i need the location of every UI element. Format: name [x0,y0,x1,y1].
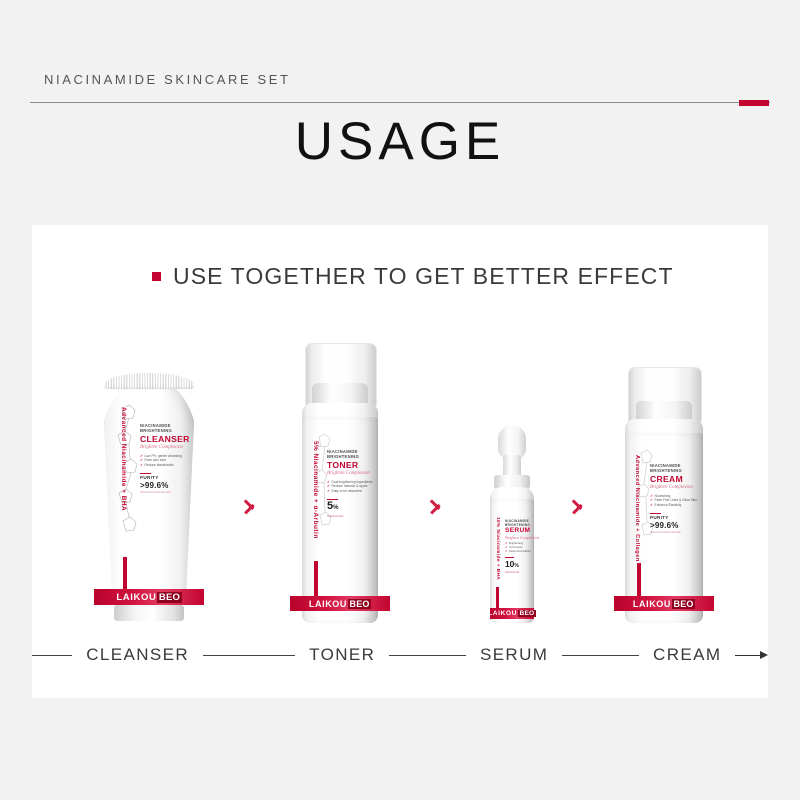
toner-pump-head [312,383,368,405]
serum-percent-number: 10 [505,559,514,569]
divider-line [30,102,770,103]
cream-bullet-3: ✓ Enhance Elasticity [650,503,700,508]
brand-badge: BEO [518,610,536,617]
product-serum[interactable]: 10% Niacinamide + BHA NIACINAMIDE BRIGHT… [472,425,552,625]
serum-dropper-bulb [498,425,526,459]
page-header: NIACINAMIDE SKINCARE SET USAGE [0,0,800,200]
toner-percent-sub: Niacinamide [327,514,377,518]
cream-bullets: ✓ Nourishing ✓ Fade Fine Lines & Glow Sk… [650,494,700,508]
product-stage: Advanced Niacinamide + BHA NIACINAMIDE B… [32,305,768,625]
brand-badge: BEO [672,599,695,609]
subtitle-text: USE TOGETHER TO GET BETTER EFFECT [173,263,674,290]
chevron-right-icon [572,495,588,517]
brand-badge: BEO [157,592,181,603]
cleanser-purity-value: >99.6% [140,481,192,490]
toner-bullet-3-text: Easy to be absorbed [332,489,362,494]
toner-label: NIACINAMIDE BRIGHTENING TONER Brighten C… [327,449,377,518]
arrow-right-icon [735,650,768,660]
step-label-toner: TONER [309,645,375,665]
purity-rule [650,513,661,515]
serum-bullets: ✓ Brightening ✓ Oil Control ✓ Fade Acne … [505,542,539,553]
cleanser-purity-sub: Advanced Niacinamide [140,490,192,494]
brand-name: LAIKOU [116,592,156,603]
cream-brand-band: LAIKOU BEO [614,596,714,611]
cleanser-tube-seal [114,605,184,621]
serum-percent-badge: 10% Niacinamide [505,557,539,575]
arrow-head [760,651,768,659]
step-label-cream: CREAM [653,645,721,665]
serum-percent-value: 10% [505,560,539,571]
check-icon: ✓ [505,550,508,554]
serum-label: NIACINAMIDE BRIGHTENING SERUM Brighten C… [505,519,539,575]
brand-name: LAIKOU [309,599,347,609]
purity-rule [140,473,151,475]
toner-script-text: Brighten Complexion [327,470,377,477]
toner-bullet-3: ✓ Easy to be absorbed [327,489,377,494]
check-icon: ✓ [140,463,143,468]
serum-product-name: SERUM [505,527,539,535]
chevron-right-icon [244,495,260,517]
cream-label: NIACINAMIDE BRIGHTENING CREAM Brighten C… [650,463,700,534]
content-panel: USE TOGETHER TO GET BETTER EFFECT [32,225,768,698]
check-icon: ✓ [650,503,653,508]
step-rule-lead [32,655,72,656]
cleanser-label: NIACINAMIDE BRIGHTENING CLEANSER Brighte… [140,423,192,494]
brand-badge: BEO [348,599,371,609]
step-rule-2 [389,655,466,656]
toner-product-name: TONER [327,460,377,470]
molecule-graphic [110,397,144,547]
cream-product-name: CREAM [650,474,700,484]
toner-bullets: ✓ Dual brightening ingredients ✓ Reduce … [327,480,377,494]
step-rule-1 [203,655,295,656]
page-title: USAGE [0,112,800,172]
step-label-cleanser: CLEANSER [86,645,189,665]
toner-percent-badge: 5% Niacinamide [327,499,377,519]
cream-bullet-3-text: Enhance Elasticity [655,503,682,508]
cream-pump-head [636,401,692,421]
product-toner[interactable]: 5% Niacinamide + α-Arbutin NIACINAMIDE B… [290,343,390,625]
cream-purity-badge: PURITY >99.6% Advanced Niacinamide [650,513,700,534]
toner-brand-band: LAIKOU BEO [290,596,390,611]
cream-script-text: Brighten Complexion [650,484,700,491]
toner-side-text: 5% Niacinamide + α-Arbutin [312,441,319,565]
cleanser-product-name: CLEANSER [140,434,192,444]
step-rule-3 [562,655,639,656]
serum-script-text: Brighten Complexion [505,535,539,540]
cream-purity-value: >99.6% [650,521,700,530]
product-cream[interactable]: Advanced Niacinamide + Collagen NIACINAM… [614,367,714,625]
serum-percent-unit: % [514,563,518,569]
cleanser-brand-band: LAIKOU BEO [94,589,204,605]
serum-brand-band: LAIKOU BEO [490,608,534,619]
eyebrow-text: NIACINAMIDE SKINCARE SET [44,72,291,87]
chevron-right-icon [430,495,446,517]
cleanser-script-text: Brighten Complexion [140,444,192,451]
toner-percent-value: 5% [327,501,377,514]
cream-purity-sub: Advanced Niacinamide [650,530,700,534]
cleanser-side-text: Advanced Niacinamide + BHA [120,407,127,533]
serum-bullet-3-text: Fade Acne Marks [509,550,531,554]
step-flow-row: CLEANSER TONER SERUM CREAM [32,635,768,675]
serum-bullet-3: ✓ Fade Acne Marks [505,550,539,554]
divider-accent-mark [739,100,769,106]
check-icon: ✓ [327,489,330,494]
red-square-bullet-icon [152,272,161,281]
serum-percent-sub: Niacinamide [505,571,539,575]
serum-side-text: 10% Niacinamide + BHA [496,517,501,595]
arrow-shaft [735,655,761,656]
cleanser-bullets: ✓ Low PH, gentle cleansing ✓ Even skin t… [140,454,192,468]
product-cleanser[interactable]: Advanced Niacinamide + BHA NIACINAMIDE B… [94,367,204,625]
brand-name: LAIKOU [488,610,517,617]
subtitle-row: USE TOGETHER TO GET BETTER EFFECT [152,263,674,290]
cleanser-bullet-3-text: Reduce blackheads [145,463,174,468]
cleanser-bullet-3: ✓ Reduce blackheads [140,463,192,468]
toner-percent-unit: % [333,505,338,511]
header-divider [30,100,770,106]
brand-name: LAIKOU [633,599,671,609]
step-label-serum: SERUM [480,645,548,665]
cleanser-purity-badge: PURITY >99.6% Advanced Niacinamide [140,473,192,494]
cleanser-cap [104,373,194,389]
